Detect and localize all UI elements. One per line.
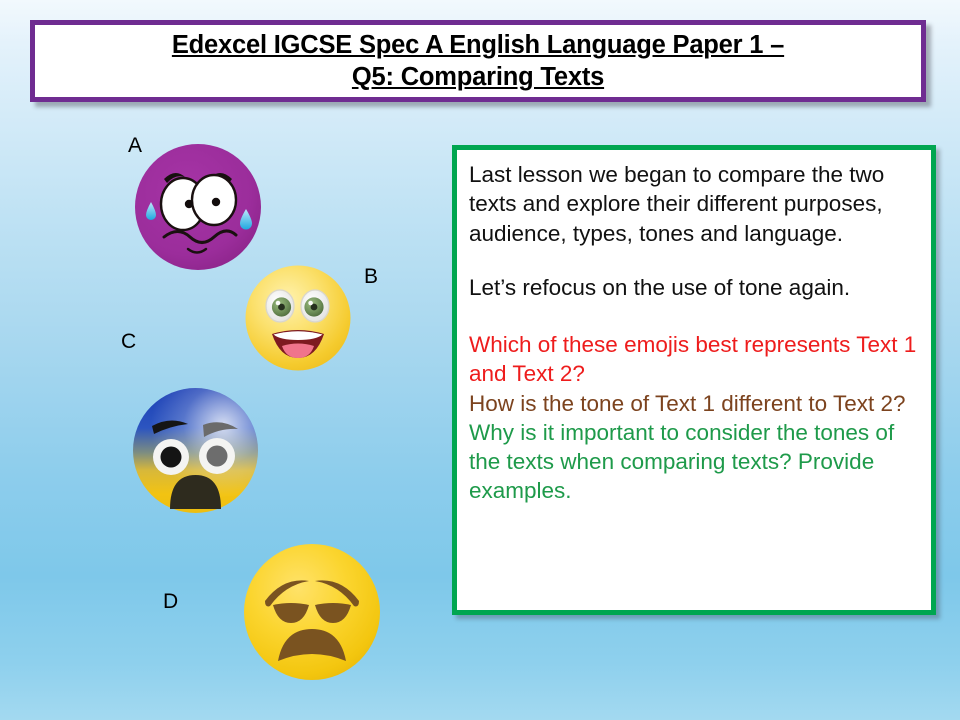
slide-canvas: Edexcel IGCSE Spec A English Language Pa… <box>0 0 960 720</box>
info-box: Last lesson we began to compare the two … <box>452 145 936 615</box>
info-question-2: How is the tone of Text 1 different to T… <box>469 389 919 418</box>
emoji-label-c: C <box>121 331 136 352</box>
emoji-label-d: D <box>163 591 178 612</box>
emoji-option-b[interactable] <box>244 264 352 372</box>
fearful-face-icon <box>132 387 259 514</box>
weary-sad-face-icon <box>243 543 381 681</box>
info-question-1: Which of these emojis best represents Te… <box>469 330 919 389</box>
grinning-happy-face-icon <box>244 264 352 372</box>
title-box: Edexcel IGCSE Spec A English Language Pa… <box>30 20 926 102</box>
emoji-option-c[interactable] <box>132 387 259 514</box>
info-paragraph-refocus: Let’s refocus on the use of tone again. <box>469 273 919 302</box>
emoji-label-a: A <box>128 135 142 156</box>
emoji-option-d[interactable] <box>243 543 381 681</box>
emoji-option-a[interactable] <box>133 142 263 272</box>
emoji-label-b: B <box>364 266 378 287</box>
anxious-sweating-face-icon <box>133 142 263 272</box>
info-question-3: Why is it important to consider the tone… <box>469 418 919 506</box>
page-title: Edexcel IGCSE Spec A English Language Pa… <box>164 29 792 93</box>
info-paragraph-intro: Last lesson we began to compare the two … <box>469 160 919 248</box>
